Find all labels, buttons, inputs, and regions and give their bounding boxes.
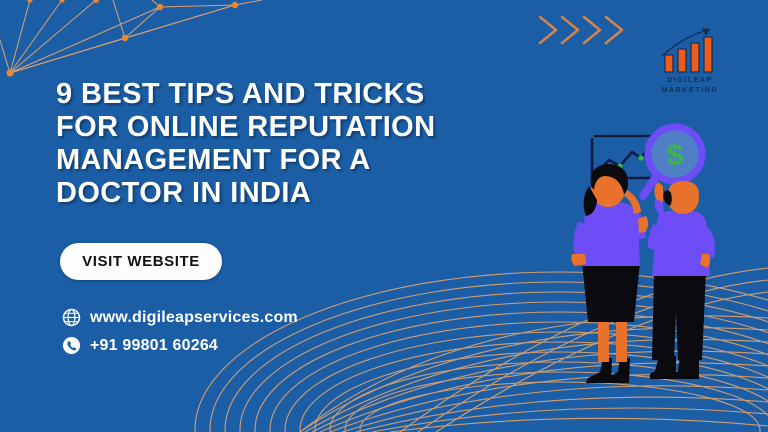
website-row[interactable]: www.digileapservices.com [62,308,298,327]
headline-line-3: MANAGEMENT FOR A [56,144,486,177]
phone-icon [62,336,81,355]
svg-text:$: $ [667,139,684,172]
headline-line-2: FOR ONLINE REPUTATION [56,111,486,144]
brand-name-line-2: MARKETING [636,86,744,96]
globe-icon [62,308,81,327]
brand-name: DIGILEAP MARKETING [636,76,744,96]
bar-chart-growth-icon [636,26,744,78]
visit-website-button[interactable]: VISIT WEBSITE [60,243,222,280]
woman-figure [571,164,648,383]
phone-row[interactable]: +91 99801 60264 [62,336,298,355]
headline-line-1: 9 BEST TIPS AND TRICKS [56,78,486,111]
phone-text: +91 99801 60264 [90,337,218,355]
brand-logo[interactable]: DIGILEAP MARKETING [636,26,744,102]
page-title: 9 BEST TIPS AND TRICKS FOR ONLINE REPUTA… [56,78,486,210]
website-text: www.digileapservices.com [90,309,298,327]
headline-line-4: DOCTOR IN INDIA [56,177,486,210]
marketing-banner: $ [0,0,768,432]
man-figure [648,181,715,379]
contact-info: www.digileapservices.com +91 99801 60264 [62,308,298,364]
brand-name-line-1: DIGILEAP [636,76,744,86]
